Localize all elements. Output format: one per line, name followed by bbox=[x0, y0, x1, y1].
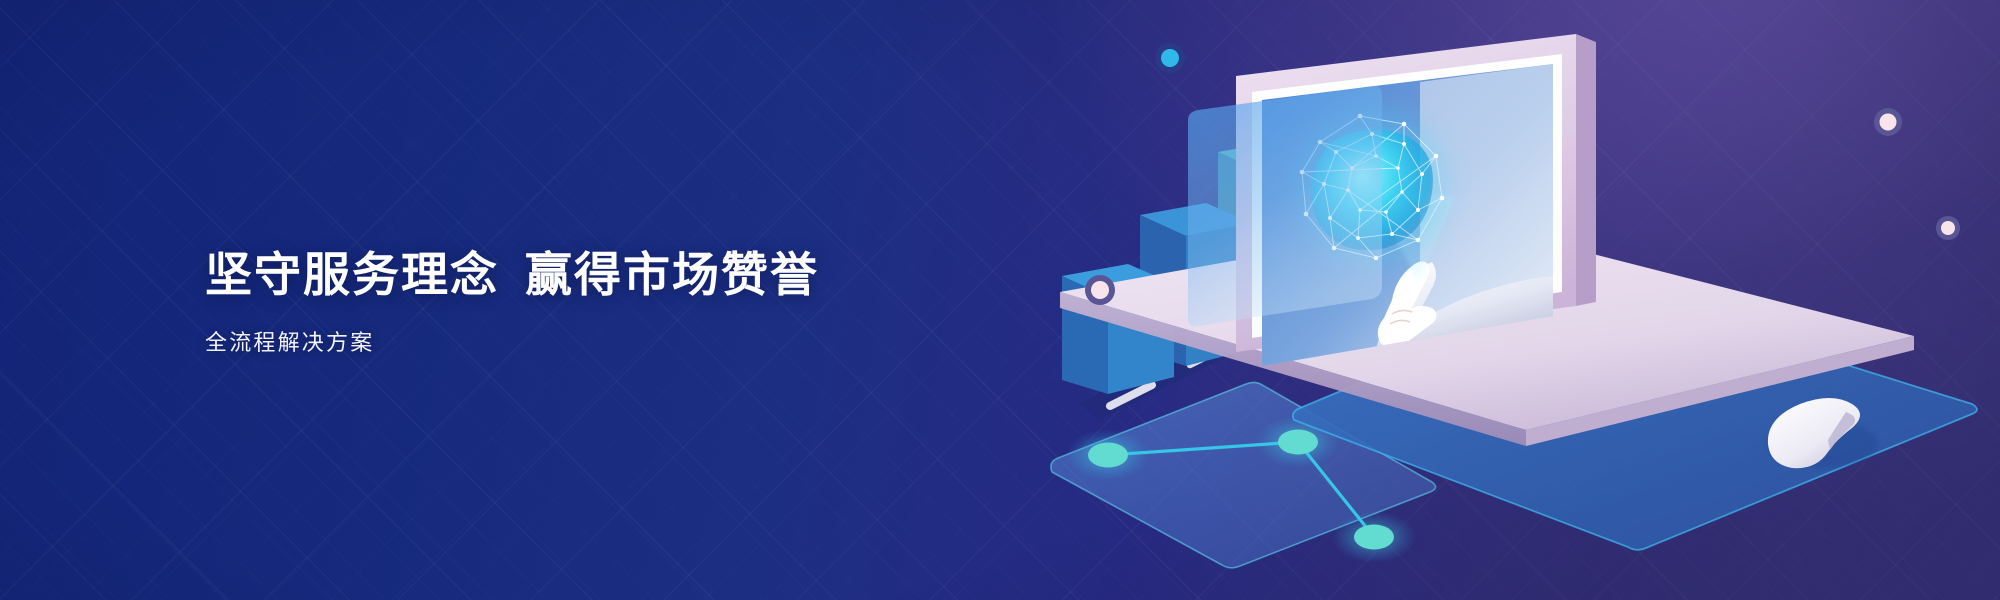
headline-part-2: 赢得市场赞誉 bbox=[525, 248, 819, 301]
network-node-1 bbox=[1088, 443, 1128, 468]
banner-headline: 坚守服务理念赢得市场赞誉 bbox=[205, 248, 819, 303]
decor-dot-pink-3 bbox=[1936, 216, 1960, 240]
hero-banner: 坚守服务理念赢得市场赞誉 全流程解决方案 bbox=[0, 0, 2000, 600]
banner-subline: 全流程解决方案 bbox=[205, 325, 819, 357]
decor-dot-cyan bbox=[1155, 43, 1185, 73]
banner-copy: 坚守服务理念赢得市场赞誉 全流程解决方案 bbox=[205, 248, 819, 357]
network-node-2 bbox=[1278, 430, 1318, 455]
decor-dot-pink-2 bbox=[1874, 108, 1902, 136]
headline-part-1: 坚守服务理念 bbox=[205, 248, 499, 301]
network-node-3 bbox=[1354, 525, 1394, 550]
banner-illustration bbox=[1040, 0, 2000, 600]
decor-dot-pink-1 bbox=[1085, 275, 1115, 305]
glass-overlay bbox=[1188, 86, 1382, 326]
